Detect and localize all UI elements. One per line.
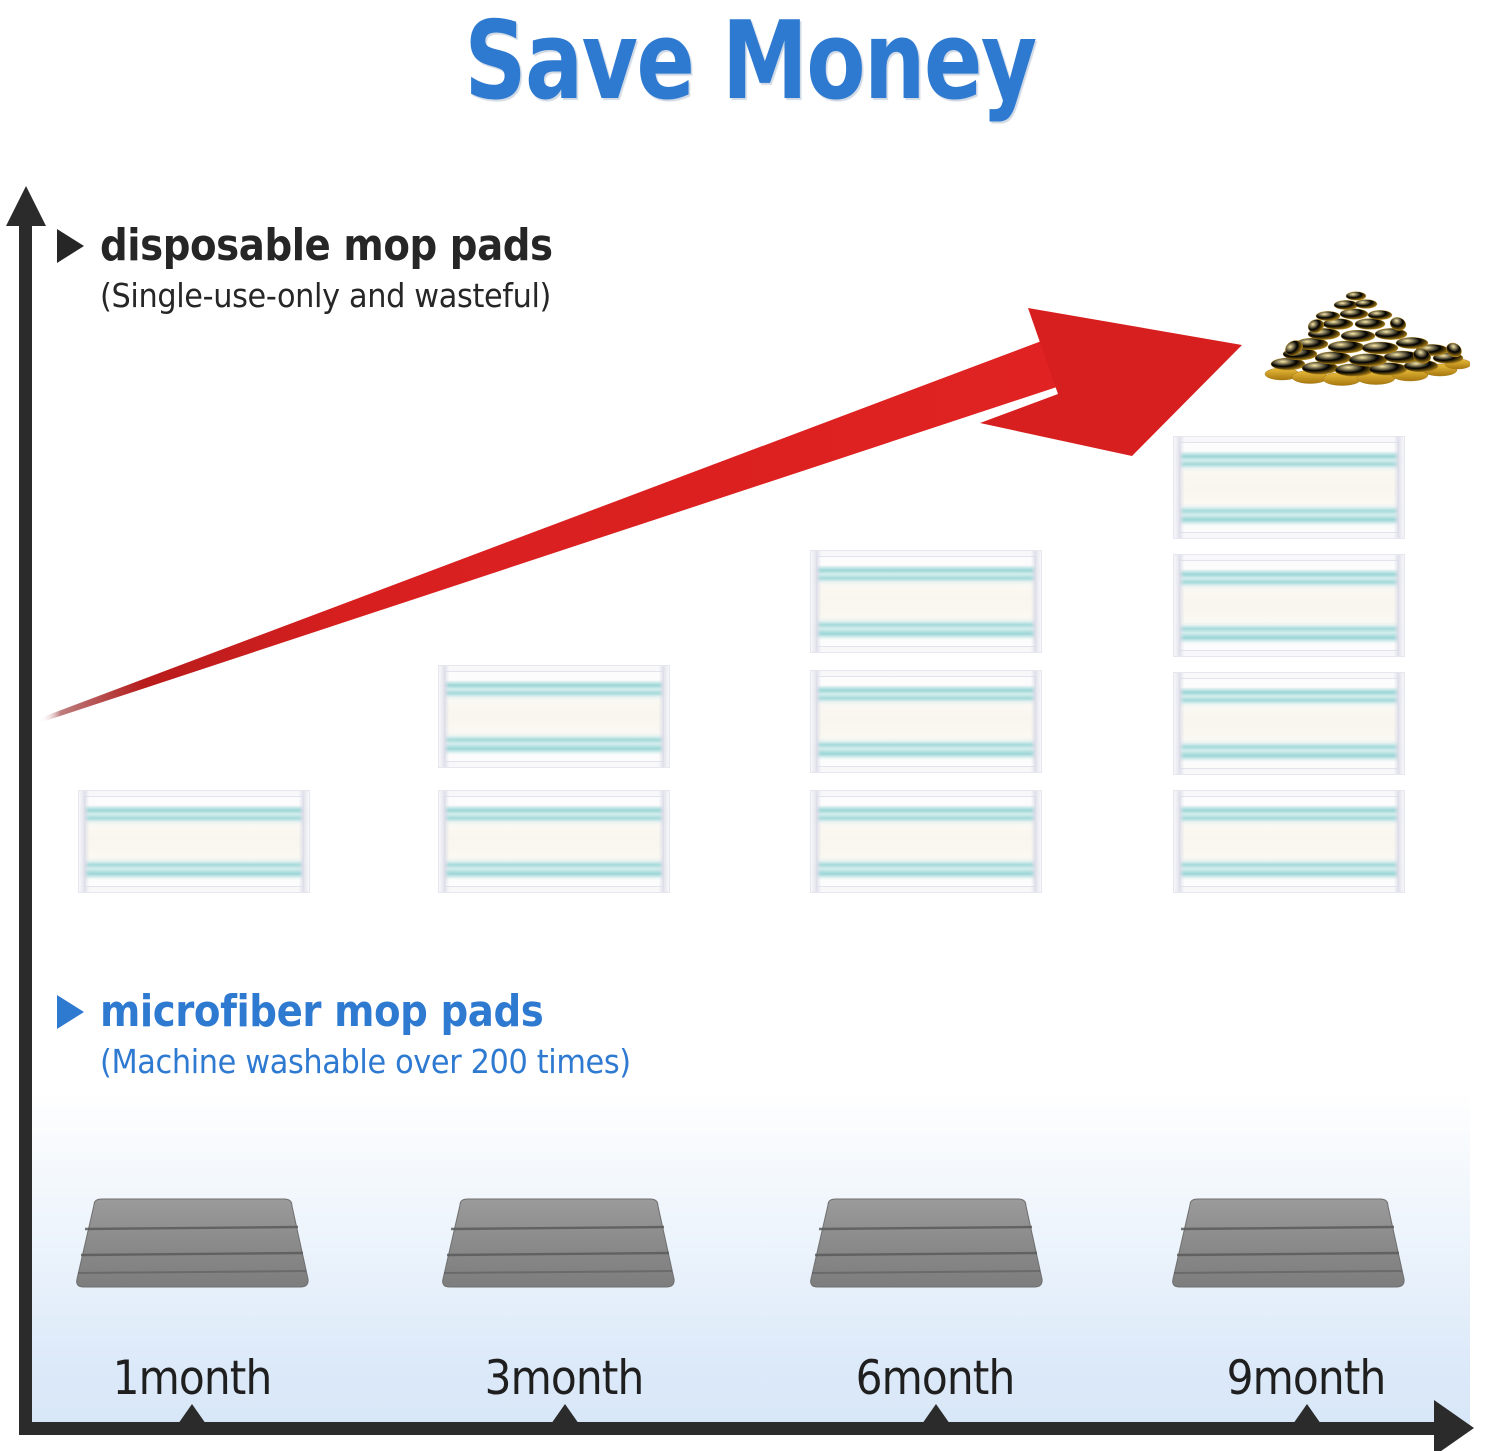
right-arrow-icon bbox=[1434, 1400, 1474, 1451]
legend-disposable-label: disposable mop pads bbox=[100, 222, 553, 270]
table-row bbox=[810, 670, 1042, 773]
x-tick-label: 6month bbox=[800, 1353, 1070, 1405]
table-row bbox=[1173, 790, 1405, 893]
x-tick-label: 1month bbox=[57, 1353, 327, 1405]
infographic-canvas: Save Money disposable mop pads (Single-u… bbox=[0, 0, 1500, 1451]
up-arrow-icon bbox=[6, 186, 46, 226]
triangle-up-icon bbox=[922, 1404, 950, 1424]
triangle-up-icon bbox=[1293, 1404, 1321, 1424]
table-row bbox=[78, 790, 310, 893]
table-row bbox=[1173, 554, 1405, 657]
table-row bbox=[810, 550, 1042, 653]
table-row bbox=[1173, 672, 1405, 775]
legend-disposable-mop-pads: disposable mop pads (Single-use-only and… bbox=[57, 222, 614, 316]
x-axis-line bbox=[19, 1422, 1443, 1435]
legend-microfiber-label: microfiber mop pads bbox=[100, 988, 543, 1036]
triangle-up-icon bbox=[178, 1404, 206, 1424]
legend-disposable-subtitle: (Single-use-only and wasteful) bbox=[100, 276, 573, 316]
y-axis-line bbox=[19, 215, 32, 1428]
legend-microfiber-mop-pads: microfiber mop pads (Machine washable ov… bbox=[57, 988, 677, 1082]
x-tick-label: 3month bbox=[429, 1353, 699, 1405]
triangle-right-icon bbox=[57, 995, 84, 1029]
list-item bbox=[72, 1197, 312, 1289]
triangle-up-icon bbox=[551, 1404, 579, 1424]
table-row bbox=[810, 790, 1042, 893]
table-row bbox=[1173, 436, 1405, 539]
list-item bbox=[806, 1197, 1046, 1289]
table-row bbox=[438, 665, 670, 768]
gold-coin-pile-icon bbox=[1258, 278, 1470, 388]
list-item bbox=[1168, 1197, 1408, 1289]
table-row bbox=[438, 790, 670, 893]
list-item bbox=[438, 1197, 678, 1289]
legend-microfiber-subtitle: (Machine washable over 200 times) bbox=[100, 1042, 631, 1082]
page-title: Save Money bbox=[150, 2, 1350, 122]
x-tick-label: 9month bbox=[1171, 1353, 1441, 1405]
triangle-right-icon bbox=[57, 229, 84, 263]
